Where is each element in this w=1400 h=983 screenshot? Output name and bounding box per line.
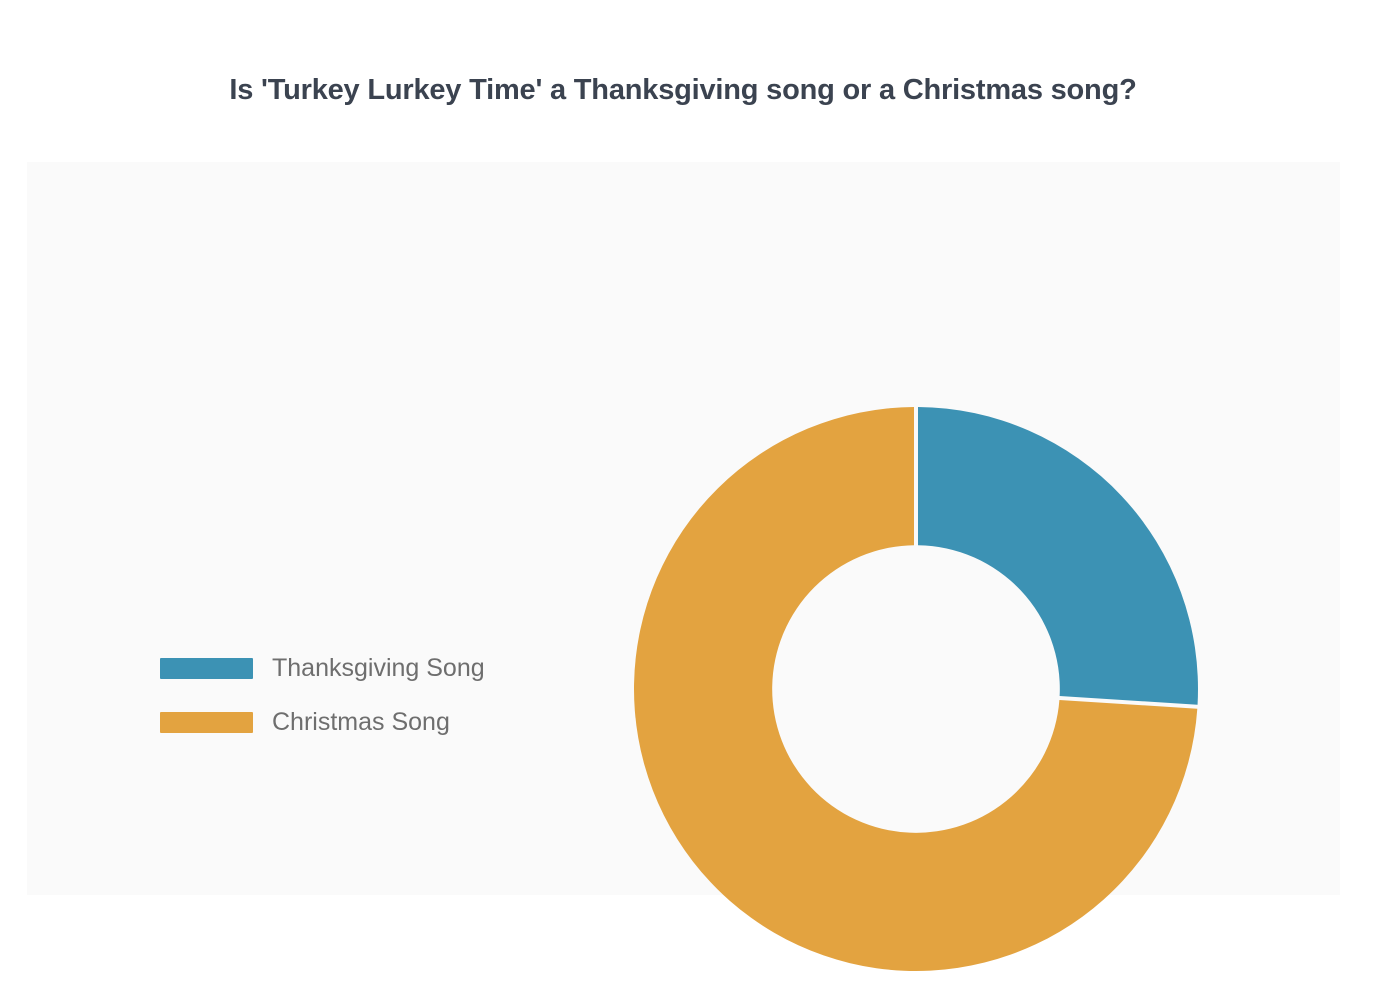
donut-slice-thanksgiving-song[interactable] — [918, 407, 1198, 705]
legend-item-christmas-song[interactable]: Christmas Song — [160, 705, 485, 739]
donut-chart — [622, 395, 1210, 983]
donut-svg — [622, 395, 1210, 983]
donut-slice-group — [634, 407, 1198, 971]
plot-panel: Thanksgiving Song Christmas Song — [27, 162, 1340, 895]
legend-item-thanksgiving-song[interactable]: Thanksgiving Song — [160, 651, 485, 685]
page-title: Is 'Turkey Lurkey Time' a Thanksgiving s… — [0, 74, 1366, 107]
chart-legend: Thanksgiving Song Christmas Song — [160, 651, 485, 739]
legend-label-thanksgiving-song: Thanksgiving Song — [272, 656, 485, 681]
legend-swatch-thanksgiving-song — [160, 658, 253, 679]
legend-swatch-christmas-song — [160, 712, 253, 733]
legend-label-christmas-song: Christmas Song — [272, 710, 450, 735]
chart-root: Is 'Turkey Lurkey Time' a Thanksgiving s… — [0, 0, 1400, 940]
